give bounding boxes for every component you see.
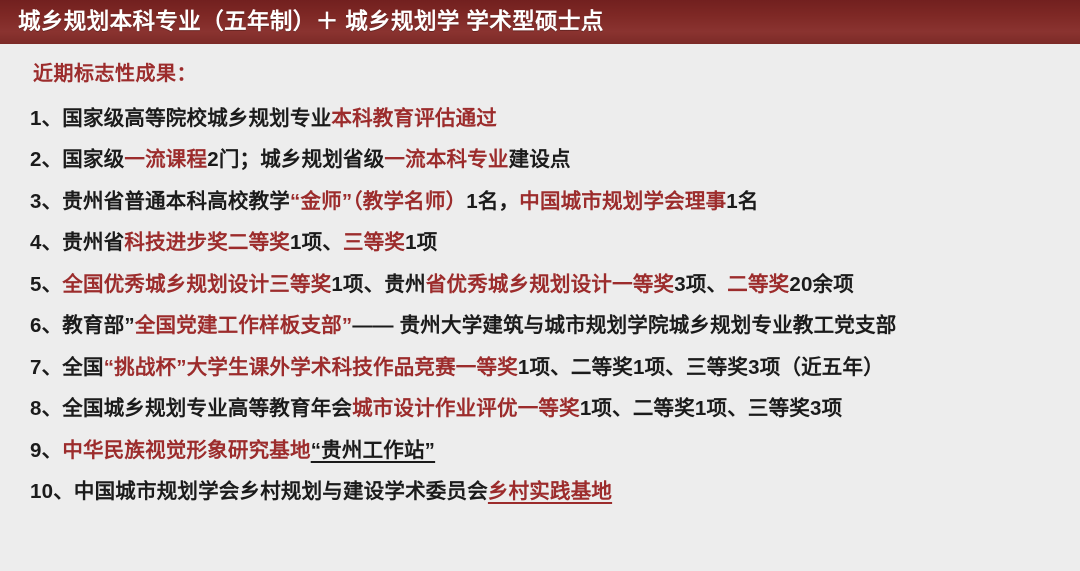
highlight-text: 省优秀城乡规划设计一等奖 [426, 275, 674, 296]
slide-content: 近期标志性成果： 1、国家级高等院校城乡规划专业本科教育评估通过2、国家级一流课… [0, 44, 1080, 571]
body-text: 3项、 [674, 275, 727, 296]
body-text: 7、全国 [30, 358, 104, 379]
list-item: 1、国家级高等院校城乡规划专业本科教育评估通过 [30, 98, 1080, 140]
body-text: 10、中国城市规划学会乡村规划与建设学术委员会 [30, 482, 488, 503]
section-subheading: 近期标志性成果： [33, 64, 1080, 84]
body-text: 20余项 [789, 275, 854, 296]
highlight-text: 二等奖 [727, 275, 789, 296]
slide-canvas: 城乡规划本科专业（五年制）＋ 城乡规划学 学术型硕士点 近期标志性成果： 1、国… [0, 0, 1080, 571]
highlight-text: 乡村实践基地 [488, 482, 612, 503]
highlight-text: 中国城市规划学会理事 [519, 192, 726, 213]
body-text: 1名， [466, 192, 519, 213]
body-text: “贵州工作站” [311, 441, 435, 462]
body-text: 4、贵州省 [30, 233, 124, 254]
highlight-text: 一流本科专业 [384, 150, 508, 171]
highlight-text: 全国党建工作样板支部” [135, 316, 352, 337]
list-item: 3、贵州省普通本科高校教学“金师”（教学名师） 1名，中国城市规划学会理事1名 [30, 181, 1080, 223]
list-item: 7、全国“挑战杯”大学生课外学术科技作品竞赛一等奖1项、二等奖1项、三等奖3项（… [30, 347, 1080, 389]
list-item: 6、教育部” 全国党建工作样板支部” —— 贵州大学建筑与城市规划学院城乡规划专… [30, 306, 1080, 348]
highlight-text: “金师”（教学名师） [290, 192, 466, 213]
list-item: 9、中华民族视觉形象研究基地“贵州工作站” [30, 430, 1080, 472]
highlight-text: “挑战杯”大学生课外学术科技作品竞赛一等奖 [104, 358, 518, 379]
body-text: 2、国家级 [30, 150, 124, 171]
highlight-text: 科技进步奖二等奖 [124, 233, 290, 254]
highlight-text: 城市设计作业评优一等奖 [352, 399, 580, 420]
body-text: 2门；城乡规划省级 [207, 150, 384, 171]
slide-title-bar: 城乡规划本科专业（五年制）＋ 城乡规划学 学术型硕士点 [0, 0, 1080, 44]
highlight-text: 一流课程 [124, 150, 207, 171]
body-text: 8、全国城乡规划专业高等教育年会 [30, 399, 352, 420]
list-item: 10、中国城市规划学会乡村规划与建设学术委员会乡村实践基地 [30, 472, 1080, 514]
highlight-text: 三等奖 [343, 233, 405, 254]
achievements-list: 1、国家级高等院校城乡规划专业本科教育评估通过2、国家级一流课程2门；城乡规划省… [30, 98, 1080, 513]
body-text: 1项、二等奖1项、三等奖3项 [580, 399, 843, 420]
body-text: 1项、 [290, 233, 343, 254]
body-text: 9、 [30, 441, 62, 462]
body-text: —— 贵州大学建筑与城市规划学院城乡规划专业教工党支部 [352, 316, 896, 337]
body-text: 1、国家级高等院校城乡规划专业 [30, 109, 331, 130]
body-text: 3、贵州省普通本科高校教学 [30, 192, 290, 213]
list-item: 2、国家级一流课程2门；城乡规划省级一流本科专业建设点 [30, 140, 1080, 182]
body-text: 6、教育部” [30, 316, 135, 337]
highlight-text: 本科教育评估通过 [331, 109, 497, 130]
body-text: 1名 [726, 192, 758, 213]
body-text: 1项 [405, 233, 437, 254]
highlight-text: 中华民族视觉形象研究基地 [62, 441, 310, 462]
highlight-text: 全国优秀城乡规划设计三等奖 [62, 275, 331, 296]
list-item: 8、全国城乡规划专业高等教育年会城市设计作业评优一等奖1项、二等奖1项、三等奖3… [30, 389, 1080, 431]
slide-title: 城乡规划本科专业（五年制）＋ 城乡规划学 学术型硕士点 [18, 11, 604, 34]
list-item: 5、全国优秀城乡规划设计三等奖1项、贵州省优秀城乡规划设计一等奖3项、二等奖20… [30, 264, 1080, 306]
body-text: 1项、二等奖1项、三等奖3项（近五年） [518, 358, 884, 379]
list-item: 4、贵州省科技进步奖二等奖1项、三等奖1项 [30, 223, 1080, 265]
body-text: 建设点 [509, 150, 571, 171]
body-text: 5、 [30, 275, 62, 296]
body-text: 1项、贵州 [331, 275, 425, 296]
